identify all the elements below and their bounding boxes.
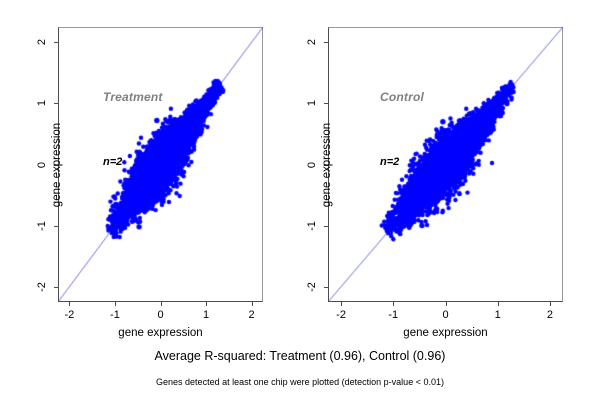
ytick-mark-treatment-3 — [54, 103, 58, 104]
xtick-label-treatment-0: -2 — [64, 309, 74, 321]
ytick-label-control-1: -1 — [306, 218, 318, 234]
caption-r-squared: Average R-squared: Treatment (0.96), Con… — [0, 349, 600, 363]
xtick-label-treatment-2: 0 — [157, 309, 163, 321]
yaxis-title-control: gene expression — [321, 120, 333, 210]
ytick-label-treatment-1: -1 — [36, 218, 48, 234]
scatter-canvas-treatment — [58, 27, 263, 302]
ytick-label-treatment-4: 2 — [36, 34, 48, 50]
ytick-label-control-2: 0 — [306, 157, 318, 173]
ytick-mark-treatment-4 — [54, 42, 58, 43]
ytick-label-control-0: -2 — [306, 279, 318, 295]
xtick-label-control-0: -2 — [336, 309, 346, 321]
ytick-label-control-3: 1 — [306, 95, 318, 111]
ytick-mark-control-1 — [324, 226, 328, 227]
ytick-mark-control-3 — [324, 103, 328, 104]
scatter-panel-control: Control n=2 — [328, 27, 563, 302]
xtick-mark-treatment-4 — [252, 302, 253, 306]
xaxis-title-treatment: gene expression — [118, 327, 202, 339]
panel-label-control: Control — [380, 90, 424, 104]
xtick-label-treatment-3: 1 — [203, 309, 209, 321]
scatter-canvas-control — [328, 27, 563, 302]
xtick-mark-treatment-1 — [115, 302, 116, 306]
ytick-label-treatment-2: 0 — [36, 157, 48, 173]
yaxis-title-treatment: gene expression — [51, 120, 63, 210]
ytick-label-treatment-0: -2 — [36, 279, 48, 295]
xtick-label-treatment-1: -1 — [110, 309, 120, 321]
caption-detection-note: Genes detected at least one chip were pl… — [0, 377, 600, 387]
xtick-mark-treatment-3 — [206, 302, 207, 306]
figure-root: Treatment n=2 Control n=2 -2-1012-2-1012… — [0, 0, 600, 400]
ytick-mark-treatment-0 — [54, 287, 58, 288]
xtick-mark-control-3 — [498, 302, 499, 306]
ytick-mark-treatment-1 — [54, 226, 58, 227]
xtick-label-control-1: -1 — [388, 309, 398, 321]
xtick-mark-control-4 — [550, 302, 551, 306]
xtick-mark-control-2 — [446, 302, 447, 306]
xtick-mark-control-0 — [341, 302, 342, 306]
xtick-label-control-2: 0 — [442, 309, 448, 321]
ytick-mark-control-0 — [324, 287, 328, 288]
xtick-label-control-3: 1 — [495, 309, 501, 321]
ytick-label-treatment-3: 1 — [36, 95, 48, 111]
sample-size-label-treatment: n=2 — [103, 156, 122, 168]
xtick-mark-control-1 — [393, 302, 394, 306]
xaxis-title-control: gene expression — [403, 327, 487, 339]
ytick-label-control-4: 2 — [306, 34, 318, 50]
ytick-mark-control-4 — [324, 42, 328, 43]
scatter-panel-treatment: Treatment n=2 — [58, 27, 263, 302]
panel-label-treatment: Treatment — [103, 90, 163, 104]
xtick-mark-treatment-0 — [69, 302, 70, 306]
xtick-mark-treatment-2 — [161, 302, 162, 306]
xtick-label-treatment-4: 2 — [249, 309, 255, 321]
sample-size-label-control: n=2 — [380, 156, 399, 168]
xtick-label-control-4: 2 — [547, 309, 553, 321]
